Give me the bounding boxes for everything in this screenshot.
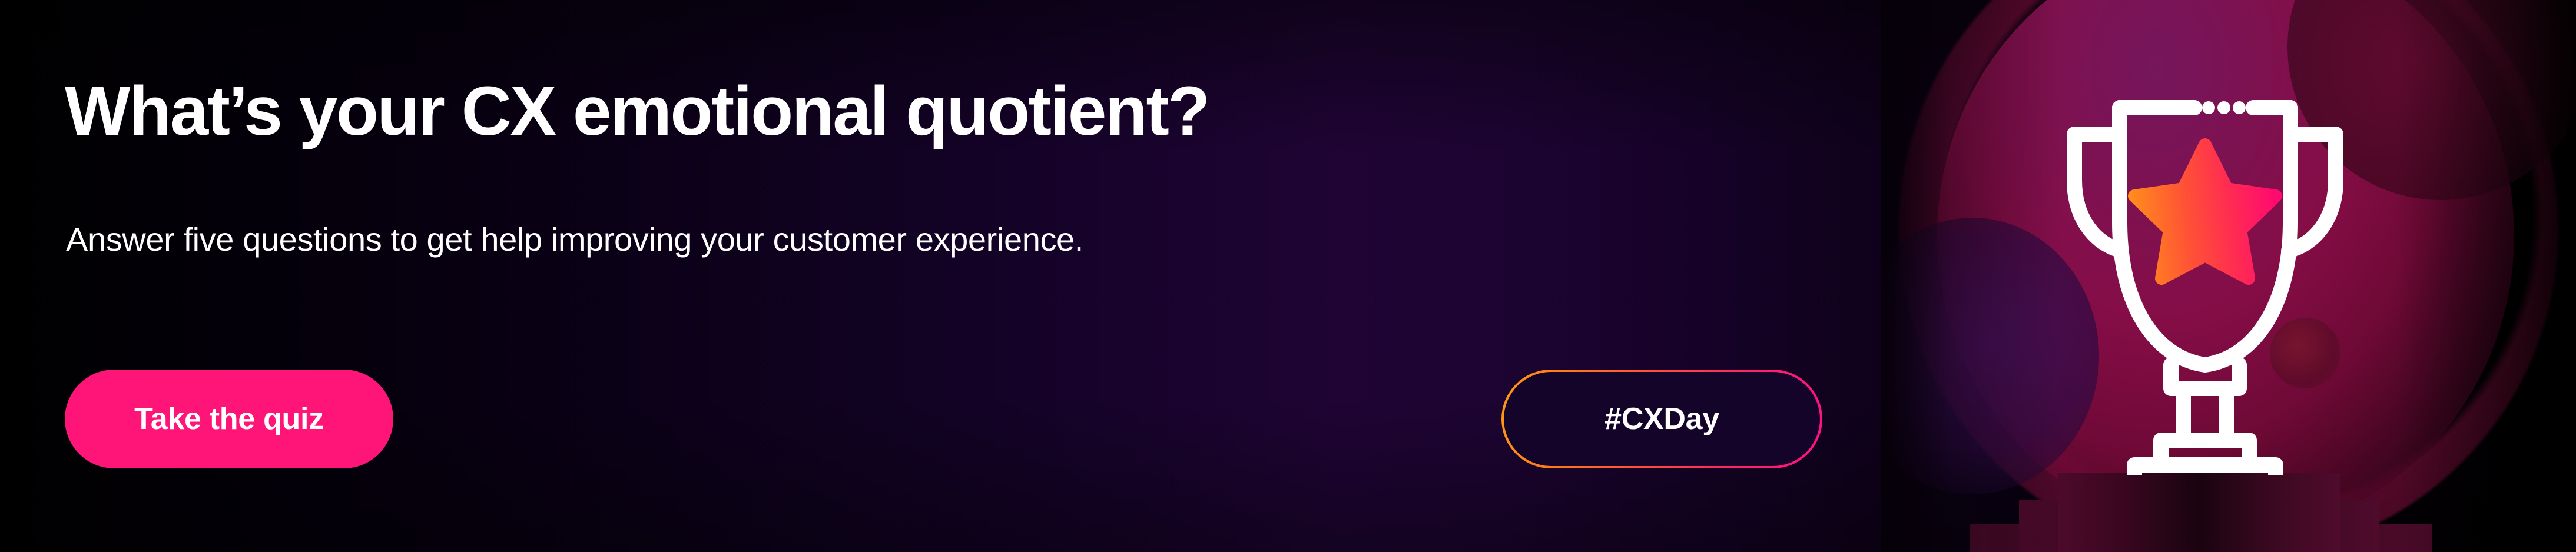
artwork-vignette: [1881, 0, 2576, 552]
banner-content: What’s your CX emotional quotient? Answe…: [65, 0, 1890, 552]
banner-headline: What’s your CX emotional quotient?: [65, 75, 1209, 148]
cxday-hashtag-label: #CXDay: [1504, 372, 1820, 466]
cxday-hashtag-button[interactable]: #CXDay: [1501, 370, 1822, 468]
trophy-artwork-panel: [1881, 0, 2576, 552]
banner-subheadline: Answer five questions to get help improv…: [66, 220, 1083, 258]
take-the-quiz-button[interactable]: Take the quiz: [65, 370, 393, 468]
cx-day-promo-banner: What’s your CX emotional quotient? Answe…: [0, 0, 2576, 552]
